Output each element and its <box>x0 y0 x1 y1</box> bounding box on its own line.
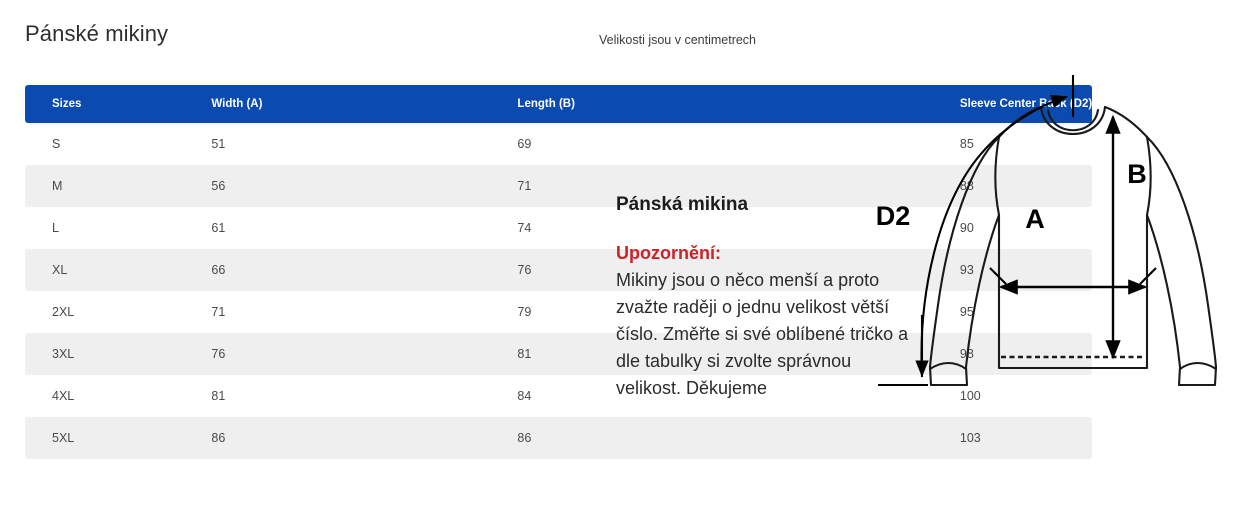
cell-size: L <box>25 207 81 249</box>
cell-size: M <box>25 165 81 207</box>
cell-width: 66 <box>81 249 262 291</box>
cell-width: 61 <box>81 207 262 249</box>
cell-length: 69 <box>262 123 574 165</box>
label-width-a: A <box>1025 204 1045 234</box>
left-cuff-ribbing <box>930 363 966 369</box>
sweatshirt-technical-drawing: A B D2 <box>860 55 1242 415</box>
cell-size: XL <box>25 249 81 291</box>
left-armhole-seam <box>995 137 999 215</box>
cell-length: 74 <box>262 207 574 249</box>
right-cuff-ribbing <box>1180 363 1216 369</box>
right-sleeve-inner-edge <box>1147 215 1180 367</box>
cell-size: 2XL <box>25 291 81 333</box>
cell-size: 4XL <box>25 375 81 417</box>
cell-size: S <box>25 123 81 165</box>
label-length-b: B <box>1127 159 1147 189</box>
right-shoulder-line <box>1105 107 1147 137</box>
column-header-width: Width (A) <box>81 85 262 123</box>
page-title: Pánské mikiny <box>25 21 168 47</box>
table-row: 5XL 86 86 103 <box>25 417 1092 459</box>
cell-width: 71 <box>81 291 262 333</box>
cell-width: 76 <box>81 333 262 375</box>
column-header-length: Length (B) <box>262 85 574 123</box>
cell-sleeve: 103 <box>575 417 1092 459</box>
cell-length: 79 <box>262 291 574 333</box>
label-sleeve-d2: D2 <box>876 201 911 231</box>
cell-length: 76 <box>262 249 574 291</box>
units-note: Velikosti jsou v centimetrech <box>599 33 756 47</box>
cell-size: 3XL <box>25 333 81 375</box>
right-sleeve-outer-edge <box>1147 137 1216 367</box>
left-sleeve-inner-edge <box>966 215 999 367</box>
sleeve-center-back-arc <box>921 97 1066 377</box>
cell-length: 71 <box>262 165 574 207</box>
left-sleeve-outer-edge <box>930 137 999 367</box>
cell-width: 86 <box>81 417 262 459</box>
cell-length: 84 <box>262 375 574 417</box>
cell-length: 86 <box>262 417 574 459</box>
column-header-sizes: Sizes <box>25 85 81 123</box>
right-cuff <box>1179 367 1216 385</box>
garment-name: Pánská mikina <box>616 194 748 216</box>
size-chart-panel: Pánské mikiny Sizes Width (A) Length (B)… <box>0 0 600 507</box>
cell-size: 5XL <box>25 417 81 459</box>
left-cuff <box>930 367 967 385</box>
cell-length: 81 <box>262 333 574 375</box>
cell-width: 81 <box>81 375 262 417</box>
garment-diagram: A B D2 <box>860 55 1242 415</box>
cell-width: 56 <box>81 165 262 207</box>
cell-width: 51 <box>81 123 262 165</box>
right-armhole-seam <box>1147 137 1151 215</box>
body-outline <box>999 215 1147 368</box>
